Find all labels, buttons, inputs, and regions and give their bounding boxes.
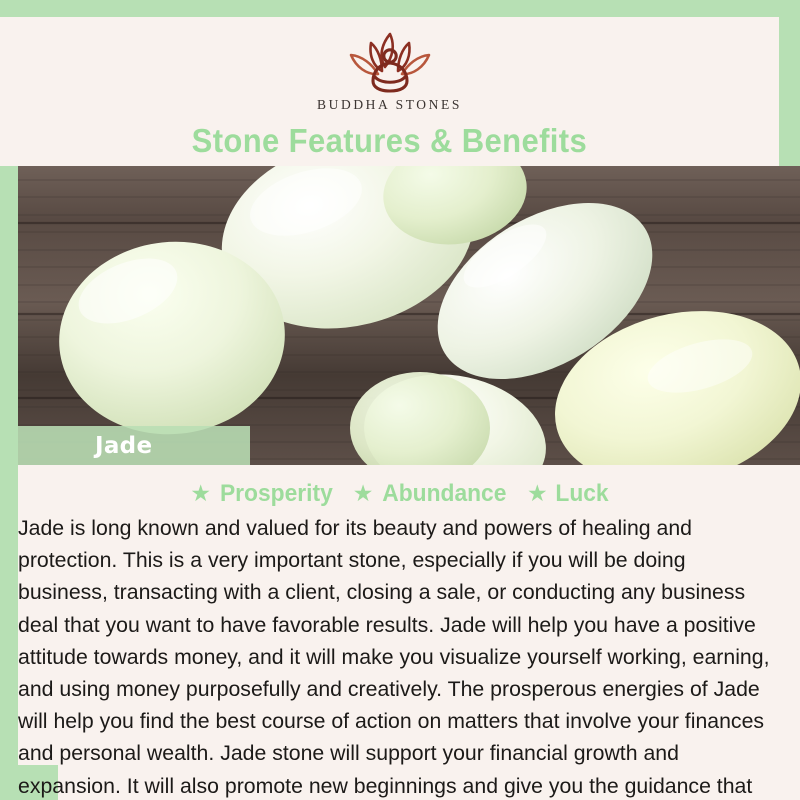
description-text: Jade is long known and valued for its be… xyxy=(18,512,778,800)
star-icon: ★ xyxy=(190,482,211,505)
benefit-label: Prosperity xyxy=(220,480,333,508)
infographic-canvas: BUDDHA STONES Stone Features & Benefits … xyxy=(0,0,800,800)
lotus-meditation-icon xyxy=(315,29,465,95)
brand-header: BUDDHA STONES Stone Features & Benefits xyxy=(0,17,779,166)
stone-name-label: Jade xyxy=(95,433,152,459)
benefit-item: ★ Abundance xyxy=(353,480,510,508)
benefit-label: Luck xyxy=(555,480,608,508)
stone-name-tag: Jade xyxy=(18,426,250,465)
benefit-item: ★ Prosperity xyxy=(190,480,335,508)
jade-stones-illustration xyxy=(0,166,800,465)
page-title: Stone Features & Benefits xyxy=(192,122,588,160)
benefits-row: ★ Prosperity ★ Abundance ★ Luck xyxy=(18,478,782,510)
jade-stones-photo xyxy=(0,166,800,465)
brand-name: BUDDHA STONES xyxy=(317,97,462,113)
benefit-item: ★ Luck xyxy=(527,480,610,508)
benefit-label: Abundance xyxy=(383,480,507,508)
left-accent-strip xyxy=(0,166,18,800)
star-icon: ★ xyxy=(353,482,374,505)
star-icon: ★ xyxy=(527,482,548,505)
